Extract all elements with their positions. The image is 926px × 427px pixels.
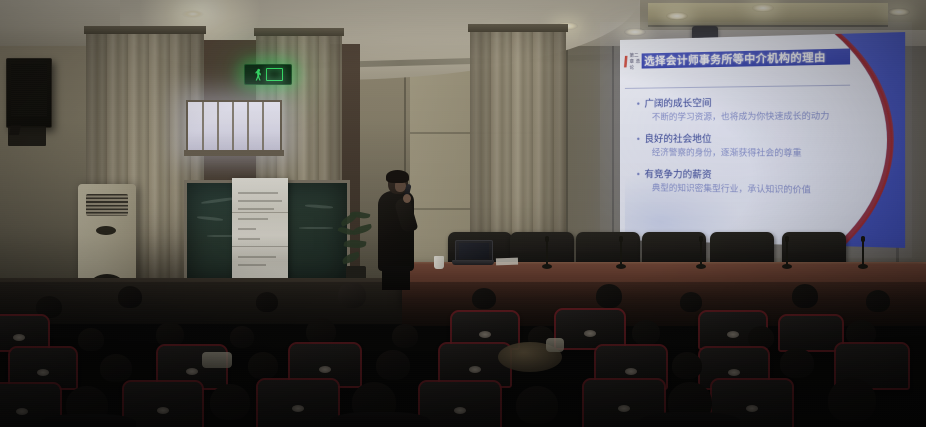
- audience-head: [780, 348, 814, 378]
- microphone-stand: [862, 240, 864, 266]
- curtain-rail: [254, 28, 344, 36]
- audience-head: [36, 296, 62, 318]
- exit-door-icon: [266, 68, 283, 81]
- slide-bullet-main: •广阔的成长空间: [636, 93, 881, 110]
- downlight-icon: [888, 8, 910, 16]
- auditorium-seat: [420, 382, 500, 427]
- audience-head: [248, 352, 278, 379]
- seat-emblem-icon: [292, 405, 304, 412]
- running-man-icon: [253, 69, 264, 81]
- stage-chair: [782, 232, 846, 266]
- audience-head: [376, 350, 410, 380]
- seat-emblem-icon: [13, 334, 25, 341]
- audience-head: [748, 326, 774, 349]
- downlight-icon: [752, 4, 774, 12]
- audience-head: [680, 292, 702, 312]
- bullet-dot-icon: •: [636, 100, 641, 109]
- auditorium-seat: [452, 312, 518, 348]
- brand-mark-icon: [624, 55, 628, 67]
- audience-head: [516, 386, 558, 424]
- posted-paper: [232, 178, 288, 282]
- audience-head: [256, 292, 278, 312]
- audience-head: [210, 384, 250, 420]
- bullet-dot-icon: •: [636, 135, 641, 144]
- audience-area: [0, 282, 926, 427]
- seat-emblem-icon: [746, 405, 758, 412]
- audience-head: [672, 352, 702, 379]
- laptop: [452, 240, 494, 266]
- window: [186, 100, 282, 152]
- seat-emblem-icon: [618, 405, 630, 412]
- audience-head: [392, 324, 418, 348]
- slide-bullet-sub: 不断的学习资源，也将成为你快速成长的动力: [652, 109, 881, 123]
- downlight-icon: [624, 28, 646, 36]
- audience-shoulders: [330, 412, 430, 427]
- audience-head: [156, 322, 184, 347]
- slide-bullet-main: •良好的社会地位: [636, 130, 881, 145]
- seat-emblem-icon: [469, 366, 481, 373]
- seat-emblem-icon: [625, 368, 637, 375]
- audience-head: [78, 328, 104, 351]
- presenter: [376, 172, 420, 290]
- stage-chair: [510, 232, 574, 266]
- potted-plant: [338, 212, 374, 286]
- seat-emblem-icon: [727, 331, 739, 338]
- audience-head: [828, 378, 876, 422]
- seat-emblem-icon: [157, 407, 169, 414]
- seat-emblem-icon: [319, 366, 331, 373]
- seat-emblem-icon: [16, 408, 28, 415]
- scarf: [202, 352, 232, 368]
- scarf: [546, 338, 564, 352]
- audience-shoulders: [40, 414, 136, 427]
- audience-head: [306, 318, 336, 345]
- downlight-icon: [182, 10, 204, 18]
- auditorium-photo: 第二章 总论 选择会计师事务所等中介机构的理由 •广阔的成长空间 不断的学习资源…: [0, 0, 926, 427]
- audience-head: [596, 284, 622, 308]
- seat-emblem-icon: [728, 369, 740, 376]
- wall-speaker: [6, 58, 52, 128]
- wall-speaker-lower: [8, 126, 46, 146]
- seat-emblem-icon: [37, 369, 49, 376]
- seat-emblem-icon: [479, 331, 491, 338]
- audience-head: [338, 282, 366, 308]
- seat-emblem-icon: [584, 330, 596, 337]
- paper-cup: [434, 256, 444, 269]
- audience-head: [100, 354, 132, 382]
- auditorium-seat: [0, 316, 48, 350]
- auditorium-seat: [780, 316, 842, 350]
- auditorium-seat: [556, 310, 624, 348]
- audience-head: [866, 290, 890, 312]
- documents: [496, 258, 518, 266]
- microphone-stand: [700, 240, 702, 266]
- slide-bullet-sub: 经济警察的身份，逐渐获得社会的尊重: [652, 146, 881, 159]
- seat-emblem-icon: [186, 368, 198, 375]
- exit-sign: [244, 64, 292, 85]
- downlight-icon: [666, 12, 688, 20]
- ac-logo-icon: [96, 226, 116, 235]
- audience-shoulders: [640, 412, 740, 427]
- auditorium-seat: [258, 380, 338, 427]
- presentation-slide: 第二章 总论 选择会计师事务所等中介机构的理由 •广阔的成长空间 不断的学习资源…: [620, 32, 905, 248]
- stage-chair: [642, 232, 706, 266]
- auditorium-seat: [10, 348, 76, 388]
- curtain-rail: [468, 24, 568, 32]
- stage-chair: [576, 232, 640, 266]
- seat-emblem-icon: [454, 407, 466, 414]
- audience-head: [792, 284, 818, 308]
- microphone-stand: [620, 240, 622, 266]
- audience-head: [846, 320, 876, 346]
- ac-vent-icon: [86, 194, 128, 216]
- audience-head: [230, 326, 254, 348]
- microphone-stand: [786, 240, 788, 266]
- microphone-stand: [546, 240, 548, 266]
- slide-logo: 第二章 总论: [624, 53, 643, 68]
- audience-head: [632, 320, 660, 345]
- stage-chair: [710, 232, 774, 266]
- projection-screen: 第二章 总论 选择会计师事务所等中介机构的理由 •广阔的成长空间 不断的学习资源…: [620, 32, 905, 248]
- audience-head: [118, 286, 142, 308]
- audience-head: [472, 288, 496, 309]
- curtain-rail: [84, 26, 206, 34]
